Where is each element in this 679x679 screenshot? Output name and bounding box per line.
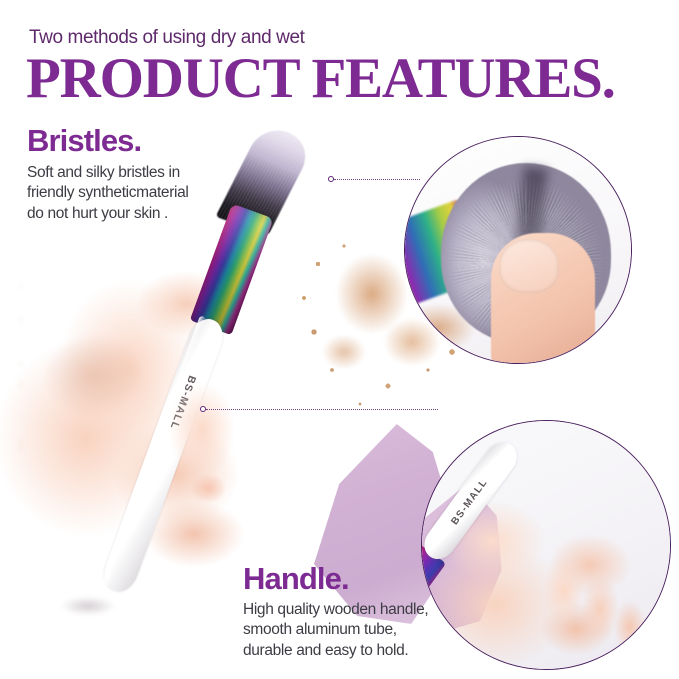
kicker-text: Two methods of using dry and wet: [29, 27, 305, 49]
callout-dot-bristles: [328, 176, 334, 182]
main-thumb: [150, 360, 270, 510]
body-line: smooth aluminum tube,: [243, 620, 428, 640]
callout-line-handle: [206, 409, 438, 410]
body-line: Soft and silky bristles in: [27, 163, 188, 183]
brand-label-inset: BS-MALL: [434, 460, 505, 542]
inset-bristles-closeup: [404, 136, 632, 364]
page-title: PRODUCT FEATURES.: [26, 50, 615, 107]
feature-block-handle: Handle. High quality wooden handle, smoo…: [243, 563, 428, 661]
inset-thumbnail: [499, 239, 559, 293]
section-title-handle: Handle.: [243, 563, 428, 594]
body-line: High quality wooden handle,: [243, 600, 428, 620]
inset-fingers: [534, 531, 654, 670]
callout-line-bristles: [334, 179, 420, 180]
section-body-handle: High quality wooden handle, smooth alumi…: [243, 600, 428, 661]
product-feature-graphic: BS-MALL BS-MALL Two methods of using dry…: [0, 0, 679, 679]
brand-text: BS-MALL: [450, 476, 491, 526]
handle-drop-shadow: [48, 588, 128, 624]
body-line: do not hurt your skin .: [27, 204, 188, 224]
callout-dot-handle: [200, 406, 206, 412]
feature-block-bristles: Bristles. Soft and silky bristles in fri…: [27, 125, 188, 224]
section-title-bristles: Bristles.: [27, 125, 188, 156]
section-body-bristles: Soft and silky bristles in friendly synt…: [27, 163, 188, 224]
inset-handle-closeup: BS-MALL: [421, 420, 671, 670]
body-line: durable and easy to hold.: [243, 641, 428, 661]
body-line: friendly syntheticmaterial: [27, 183, 188, 203]
